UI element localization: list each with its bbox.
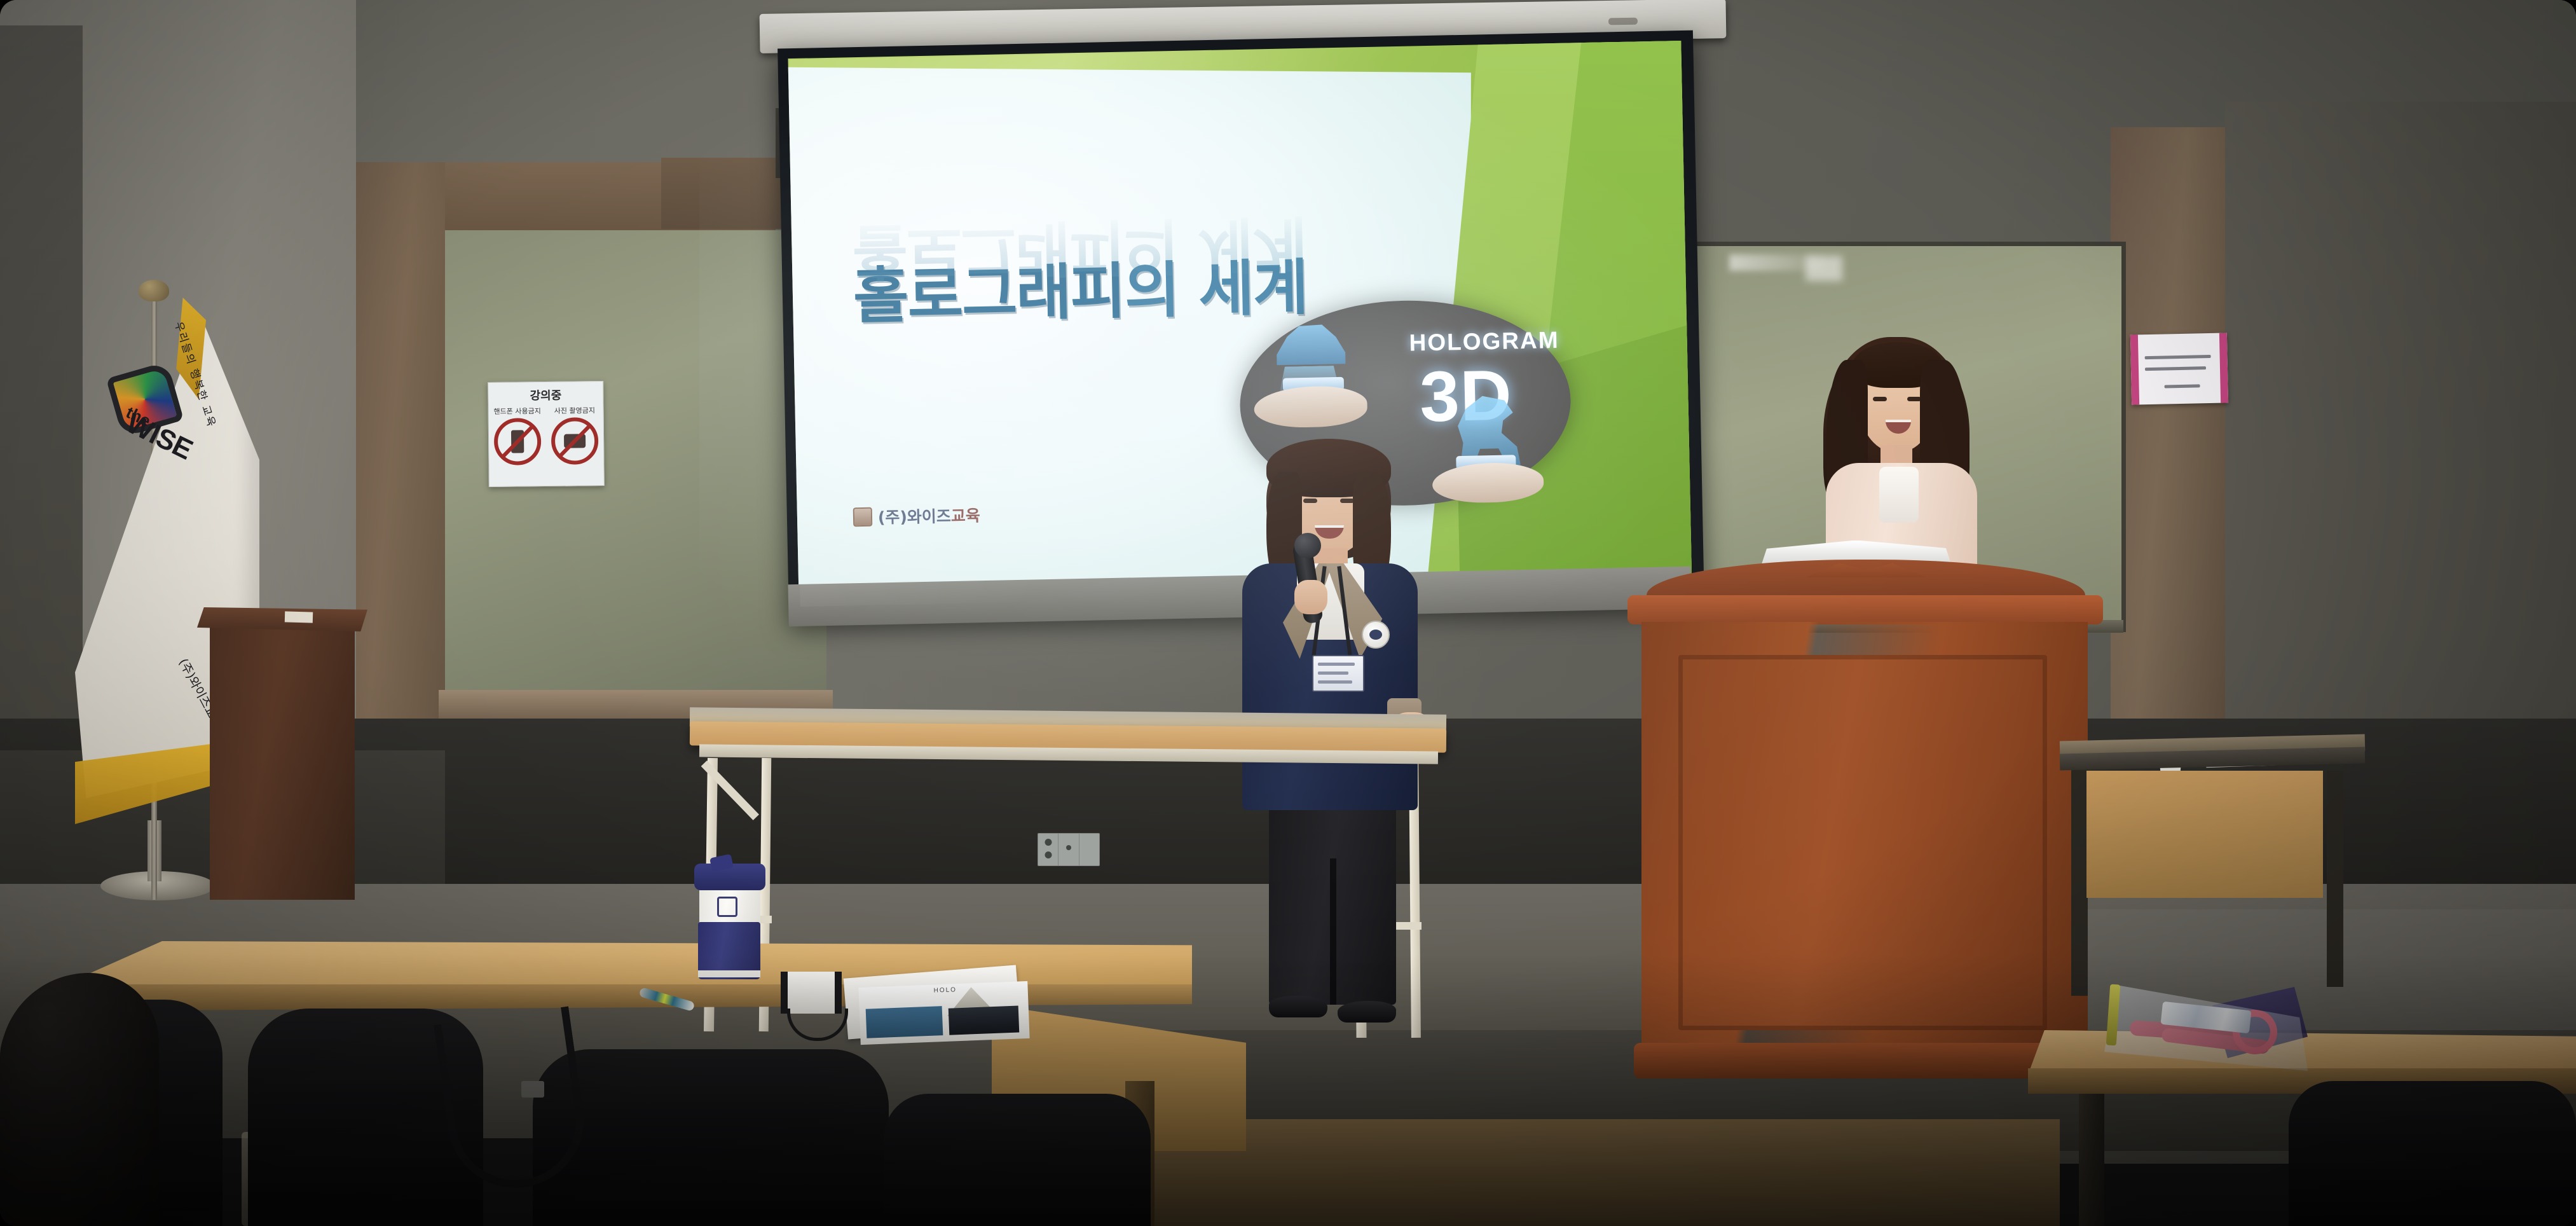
slide-logo-text: (주)와이즈교육	[878, 503, 981, 528]
handout-title-text: HOLO	[933, 986, 957, 994]
podium-base	[1634, 1043, 2094, 1078]
wall-socket-panel[interactable]	[1038, 833, 1100, 866]
handout-with-pyramid-diagram[interactable]: HOLO	[858, 981, 1029, 1045]
no-phone-label: 핸드폰 사용금지	[493, 406, 541, 417]
handout-photo-blue	[866, 1006, 943, 1038]
speaker-shoe-left	[1269, 996, 1327, 1017]
coffee-cup-logo-icon	[717, 897, 737, 917]
handout-photo-dark	[949, 1006, 1020, 1035]
sign-icons-row: 핸드폰 사용금지 사진 촬영금지	[493, 405, 598, 465]
podium-front-panel	[1678, 655, 2047, 1030]
logo-company-suffix: 교육	[951, 506, 981, 525]
audience-chair[interactable]	[884, 1094, 1151, 1226]
audience-member-head	[0, 973, 159, 1226]
podium-lip	[1627, 595, 2103, 624]
open-hand-icon	[1254, 385, 1367, 429]
notice-stripe-right	[2219, 333, 2228, 403]
notice-text-line	[2145, 366, 2206, 371]
sign-title: 강의중	[530, 387, 561, 404]
round-pin-badge	[1362, 621, 1390, 649]
id-badge-card	[1312, 655, 1364, 692]
speaker-leg-gap	[1330, 858, 1336, 1005]
side-desk-leg	[2071, 767, 2088, 996]
lectern-name-card	[285, 611, 313, 623]
coffee-cup-sleeve-band	[698, 970, 760, 977]
right-wall-column	[2111, 127, 2225, 795]
small-lectern-top	[197, 607, 367, 631]
notice-stripe-left	[2130, 334, 2139, 404]
house-logo-icon	[853, 507, 873, 527]
small-dark-lectern	[210, 626, 355, 900]
sign-item-no-phone: 핸드폰 사용금지	[493, 406, 541, 465]
speaker-eye-left	[1303, 499, 1317, 503]
audience-chair[interactable]	[533, 1049, 889, 1226]
microphone-head	[1294, 533, 1321, 558]
lecture-hall-photo: 홀로그래피의 세계 홀로그래피의 세계 HOLOGRAM 3D (주)와이즈교육…	[0, 0, 2576, 1226]
power-socket[interactable]	[1038, 834, 1058, 865]
presenter-eye-right	[1907, 397, 1921, 401]
screen-housing-knob[interactable]	[1608, 18, 1638, 25]
flag-finial	[139, 280, 169, 301]
notice-text-line	[2145, 355, 2211, 359]
no-photography-icon	[551, 417, 599, 465]
speaker-hand-holding-mic	[1294, 580, 1327, 614]
whiteboard-light-reflection-2	[1805, 256, 1842, 281]
side-desk-modesty-panel	[2086, 771, 2323, 898]
side-table-leg	[2079, 1090, 2104, 1226]
notice-text-line	[2165, 384, 2200, 388]
right-wall-panel	[2225, 102, 2576, 776]
logo-company-prefix: (주)와이즈	[878, 507, 951, 527]
handbag-buckle	[521, 1081, 544, 1098]
hologram-word: HOLOGRAM	[1409, 327, 1559, 357]
no-photography-label: 사진 촬영금지	[554, 405, 595, 416]
side-desk-leg	[2327, 771, 2343, 987]
speaker-shoe-right	[1338, 1001, 1396, 1023]
data-jack[interactable]	[1058, 834, 1079, 865]
sign-item-no-photo: 사진 촬영금지	[551, 405, 599, 465]
presenter-inner-top	[1879, 467, 1919, 523]
slide-title-reflection: 홀로그래피의 세계	[851, 204, 1307, 300]
no-mobile-phone-icon	[494, 418, 542, 465]
speaker-eye-right	[1340, 499, 1354, 503]
aux-jack[interactable]	[1079, 834, 1099, 865]
presenter-eye-left	[1873, 397, 1887, 401]
id-badge-holder[interactable]	[781, 972, 842, 1014]
audience-chair[interactable]	[2289, 1081, 2576, 1226]
lecture-rules-sign: 강의중 핸드폰 사용금지 사진 촬영금지	[488, 381, 605, 487]
slide-footer-logo: (주)와이즈교육	[853, 503, 981, 528]
right-wall-notice	[2130, 333, 2228, 404]
